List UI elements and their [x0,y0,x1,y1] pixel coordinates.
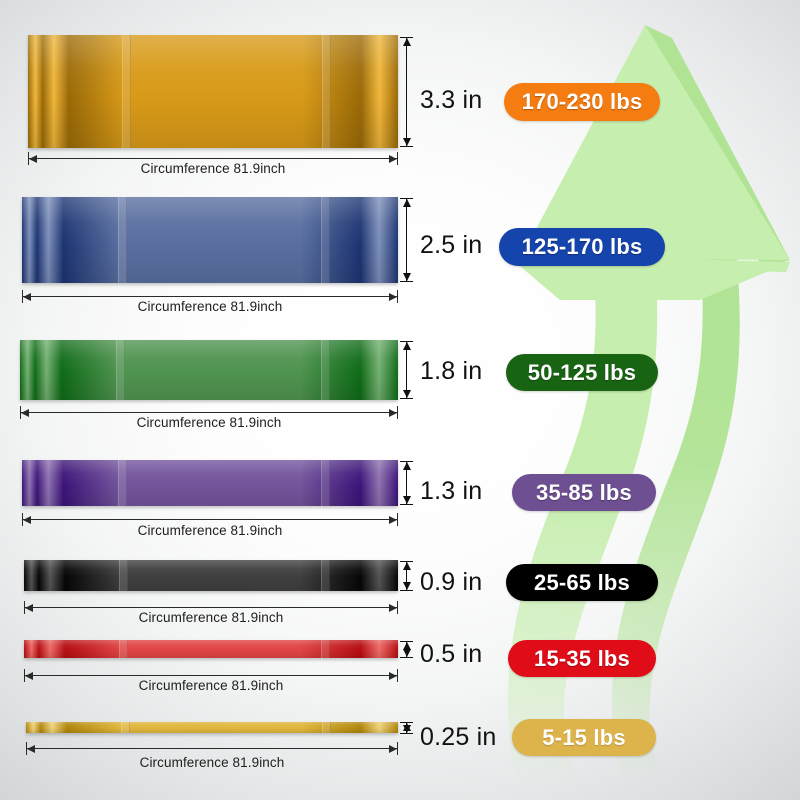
dimension-cap-bottom [400,733,413,734]
band-width-label: 3.3 in [420,86,482,115]
dimension-line [406,198,407,282]
arrowhead-down-icon [403,390,411,398]
band-width-label: 1.8 in [420,357,482,386]
band-surface [22,460,398,506]
resistance-badge-black: 25-65 lbs [506,564,658,601]
dimension-line [22,296,398,297]
band-purple [22,460,398,506]
arrowhead-up-icon [403,462,411,470]
dimension-cap-bottom [400,590,413,591]
dimension-line [20,412,398,413]
band-highlight [24,640,398,658]
thickness-dimension-arrow [400,641,414,658]
band-seam [122,35,131,148]
thickness-dimension-arrow [400,461,414,505]
arrowhead-right-icon [389,745,397,753]
dimension-cap-bottom [400,146,413,147]
band-width-label: 0.25 in [420,723,496,752]
band-seam [119,560,128,591]
arrowhead-down-icon [403,138,411,146]
arrowhead-down-icon [403,649,411,657]
circumference-label: Circumference 81.9inch [24,678,398,693]
dimension-line [28,158,398,159]
band-highlight [24,560,398,591]
dimension-line [24,607,398,608]
arrowhead-down-icon [403,582,411,590]
band-green [20,340,398,400]
resistance-badge-yellow: 5-15 lbs [512,719,656,756]
dimension-cap-bottom [400,281,413,282]
circumference-label: Circumference 81.9inch [24,610,398,625]
circumference-dimension-arrow [26,742,398,756]
band-width-label: 1.3 in [420,477,482,506]
thickness-dimension-arrow [400,722,414,734]
arrowhead-down-icon [403,273,411,281]
arrowhead-up-icon [403,342,411,350]
dimension-line [26,748,398,749]
arrowhead-up-icon [403,38,411,46]
arrowhead-up-icon [403,199,411,207]
band-red [24,640,398,658]
circumference-label: Circumference 81.9inch [26,755,398,770]
band-seam [321,560,330,591]
resistance-badge-green: 50-125 lbs [506,354,658,391]
resistance-badge-blue: 125-170 lbs [499,228,665,266]
band-rows: Circumference 81.9inch3.3 in170-230 lbsC… [0,0,800,800]
band-highlight [28,35,398,148]
dimension-line [406,37,407,147]
dimension-line [24,675,398,676]
band-seam [322,722,331,733]
band-orange [28,35,398,148]
band-surface [24,560,398,591]
infographic-canvas: Circumference 81.9inch3.3 in170-230 lbsC… [0,0,800,800]
band-seam [121,722,130,733]
dimension-cap-right [397,742,398,755]
thickness-dimension-arrow [400,341,414,399]
circumference-label: Circumference 81.9inch [20,415,398,430]
band-seam [321,340,330,400]
band-surface [28,35,398,148]
dimension-cap-bottom [400,504,413,505]
arrowhead-up-icon [403,562,411,570]
band-highlight [26,722,398,733]
band-blue [22,197,398,283]
band-seam [321,197,330,283]
circumference-label: Circumference 81.9inch [22,523,398,538]
dimension-line [22,519,398,520]
band-surface [20,340,398,400]
band-seam [116,340,125,400]
band-width-label: 0.5 in [420,640,482,669]
band-surface [24,640,398,658]
band-seam [321,460,330,506]
resistance-badge-purple: 35-85 lbs [512,474,656,511]
thickness-dimension-arrow [400,198,414,282]
resistance-badge-red: 15-35 lbs [508,640,656,677]
band-width-label: 0.9 in [420,568,482,597]
dimension-cap-bottom [400,657,413,658]
band-surface [22,197,398,283]
arrowhead-down-icon [403,725,411,733]
band-highlight [20,340,398,400]
band-yellow [26,722,398,733]
band-seam [321,640,330,658]
thickness-dimension-arrow [400,37,414,147]
arrowhead-down-icon [403,496,411,504]
band-seam [322,35,331,148]
band-seam [118,197,127,283]
band-width-label: 2.5 in [420,231,482,260]
band-highlight [22,197,398,283]
dimension-cap-bottom [400,398,413,399]
band-highlight [22,460,398,506]
band-seam [119,640,128,658]
band-surface [26,722,398,733]
arrowhead-left-icon [27,745,35,753]
circumference-label: Circumference 81.9inch [22,299,398,314]
band-seam [118,460,127,506]
thickness-dimension-arrow [400,561,414,591]
resistance-badge-orange: 170-230 lbs [504,83,660,121]
circumference-label: Circumference 81.9inch [28,161,398,176]
band-black [24,560,398,591]
